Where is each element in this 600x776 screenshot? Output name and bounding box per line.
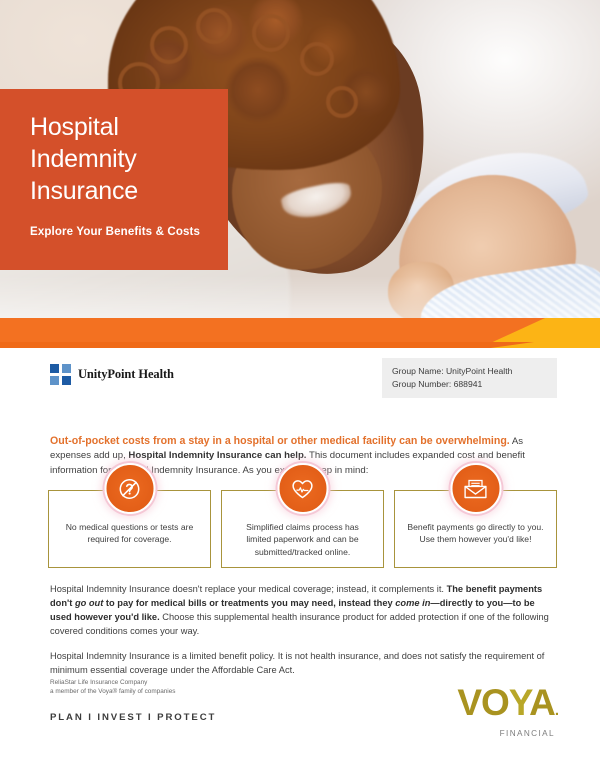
grid-square (62, 364, 71, 373)
disclaimer-line-1: ReliaStar Life Insurance Company (50, 678, 175, 687)
benefit-card-text: Benefit payments go directly to you. Use… (406, 521, 545, 546)
body-copy: Hospital Indemnity Insurance doesn't rep… (50, 582, 556, 688)
group-name: Group Name: UnityPoint Health (392, 365, 547, 378)
page-title: Hospital Indemnity Insurance (30, 111, 210, 207)
disclaimer-line-2: a member of the Voya® family of companie… (50, 687, 175, 696)
no-medical-questions-icon (104, 463, 155, 514)
voya-letter-a: A (529, 682, 555, 723)
benefit-card: No medical questions or tests are requir… (48, 490, 211, 568)
voya-letter-o: O (481, 682, 509, 723)
legal-disclaimer: ReliaStar Life Insurance Company a membe… (50, 678, 175, 696)
body-p1-italic-1: go out (75, 598, 103, 608)
voya-financial-logo: VOYA. FINANCIAL (430, 686, 558, 738)
grid-square (50, 364, 59, 373)
page-subtitle: Explore Your Benefits & Costs (30, 226, 210, 238)
body-p1-text-a: Hospital Indemnity Insurance doesn't rep… (50, 584, 447, 594)
brand-tagline: PLAN I INVEST I PROTECT (50, 712, 216, 723)
group-number: Group Number: 688941 (392, 378, 547, 391)
unitypoint-health-logo-text: UnityPoint Health (78, 367, 174, 382)
photo-hair-curl (326, 86, 358, 118)
page-title-line-1: Hospital (30, 111, 210, 143)
page-title-line-3: Insurance (30, 175, 210, 207)
benefit-card-text: No medical questions or tests are requir… (60, 521, 199, 546)
unitypoint-health-logo: UnityPoint Health (50, 364, 174, 385)
accent-band-orange-shadow (0, 342, 545, 348)
voya-letter-v: V (457, 682, 481, 723)
photo-bottom-fade (0, 276, 600, 318)
benefit-card: Simplified claims process has limited pa… (221, 490, 384, 568)
voya-wordmark: VOYA. (430, 686, 558, 728)
voya-letter-y: Y (509, 682, 529, 723)
grid-square (62, 376, 71, 385)
group-info-box: Group Name: UnityPoint Health Group Numb… (382, 358, 557, 398)
photo-hair-curl (300, 42, 334, 76)
heart-medical-claims-icon (277, 463, 328, 514)
photo-hair-curl (150, 26, 188, 64)
accent-band (0, 318, 600, 348)
photo-hair-curl (252, 14, 290, 52)
hero-banner: Hospital Indemnity Insurance Explore You… (0, 0, 600, 318)
grid-square (50, 376, 59, 385)
page-title-line-2: Indemnity (30, 143, 210, 175)
photo-hair-curl (196, 8, 232, 44)
benefit-card: Benefit payments go directly to you. Use… (394, 490, 557, 568)
hero-title-block: Hospital Indemnity Insurance Explore You… (0, 89, 228, 270)
four-square-grid-icon (50, 364, 71, 385)
body-p1-italic-2: come in (395, 598, 430, 608)
body-paragraph-2: Hospital Indemnity Insurance is a limite… (50, 649, 556, 677)
envelope-payment-icon (450, 463, 501, 514)
benefit-cards: No medical questions or tests are requir… (48, 490, 558, 568)
body-paragraph-1: Hospital Indemnity Insurance doesn't rep… (50, 582, 556, 638)
intro-highlight: Out-of-pocket costs from a stay in a hos… (50, 435, 510, 447)
voya-subtext: FINANCIAL (430, 729, 555, 738)
intro-bold: Hospital Indemnity Insurance can help. (128, 450, 306, 461)
voya-dot: . (555, 702, 558, 719)
logo-row: UnityPoint Health Group Name: UnityPoint… (0, 358, 600, 398)
benefit-card-text: Simplified claims process has limited pa… (233, 521, 372, 558)
body-p1-bold-2: to pay for medical bills or treatments y… (103, 598, 395, 608)
